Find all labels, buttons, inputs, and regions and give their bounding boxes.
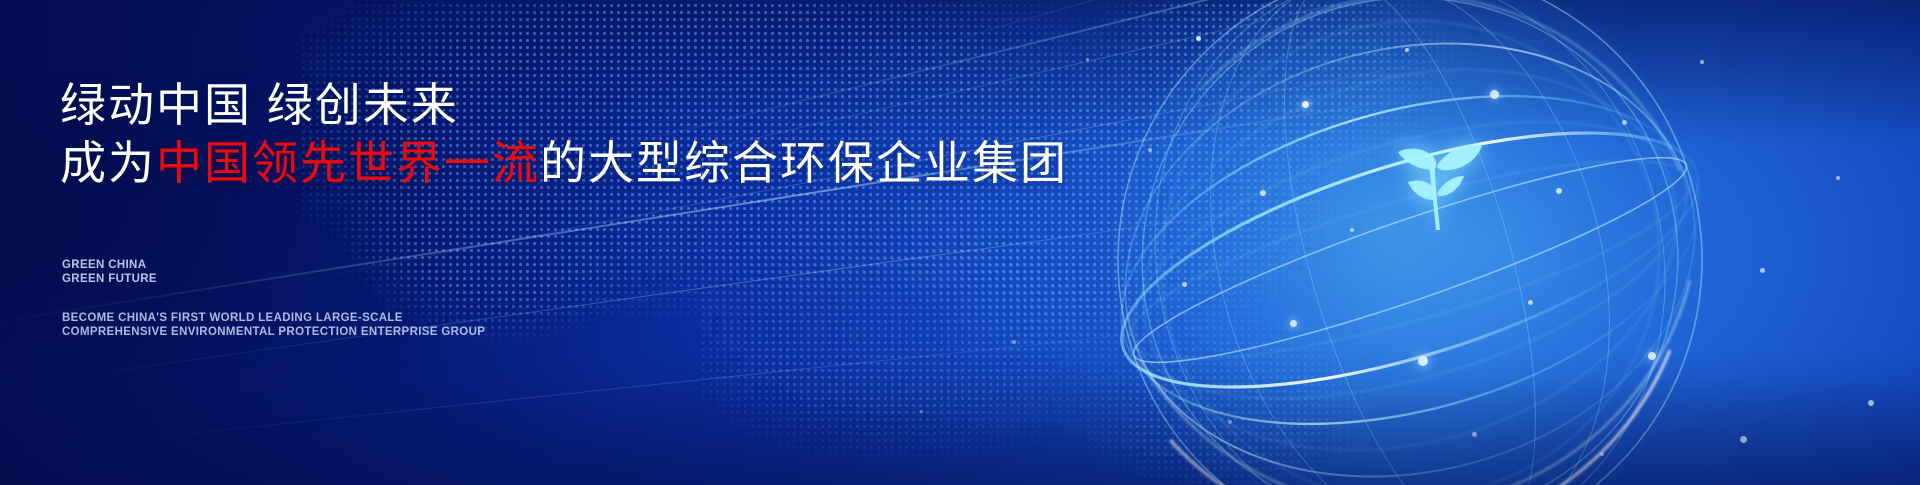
particle — [1418, 356, 1428, 366]
particle — [1760, 268, 1765, 273]
headline-prefix: 成为 — [60, 137, 156, 189]
particle — [1600, 452, 1604, 456]
particle — [1290, 320, 1297, 327]
headline-suffix: 的大型综合环保企业集团 — [540, 137, 1068, 189]
particle — [1472, 432, 1477, 437]
particle — [920, 410, 923, 413]
particle-field — [0, 0, 1920, 485]
subtitle-en-line-1: BECOME CHINA'S FIRST WORLD LEADING LARGE… — [62, 311, 485, 325]
particle — [1228, 420, 1232, 424]
subtitle-en-line-2: COMPREHENSIVE ENVIRONMENTAL PROTECTION E… — [62, 325, 485, 339]
headline-line-1: 绿动中国 绿创未来 — [60, 76, 1068, 134]
particle — [1148, 148, 1152, 152]
particle — [1868, 400, 1874, 406]
tagline-en-line-1: GREEN CHINA — [62, 258, 157, 272]
particle — [1528, 300, 1533, 305]
particle — [1086, 58, 1089, 61]
particle — [1836, 176, 1840, 180]
particle — [1648, 352, 1656, 360]
particle — [1700, 60, 1704, 64]
tagline-en-line-2: GREEN FUTURE — [62, 272, 157, 286]
particle — [1556, 188, 1562, 194]
particle — [1182, 282, 1187, 287]
subtitle-en: BECOME CHINA'S FIRST WORLD LEADING LARGE… — [62, 311, 485, 339]
particle — [1740, 436, 1747, 443]
particle — [1622, 120, 1627, 125]
headline-block: 绿动中国 绿创未来 成为中国领先世界一流的大型综合环保企业集团 — [60, 76, 1068, 192]
particle — [1260, 190, 1266, 196]
particle — [1012, 340, 1016, 344]
particle — [1405, 48, 1409, 52]
particle — [1350, 228, 1354, 232]
headline-line-2: 成为中国领先世界一流的大型综合环保企业集团 — [60, 134, 1068, 192]
hero-banner: 绿动中国 绿创未来 成为中国领先世界一流的大型综合环保企业集团 GREEN CH… — [0, 0, 1920, 485]
headline-highlight: 中国领先世界一流 — [156, 137, 540, 189]
tagline-en: GREEN CHINA GREEN FUTURE — [62, 258, 157, 286]
particle — [1490, 90, 1499, 99]
particle — [1196, 36, 1201, 41]
particle — [1302, 101, 1309, 108]
